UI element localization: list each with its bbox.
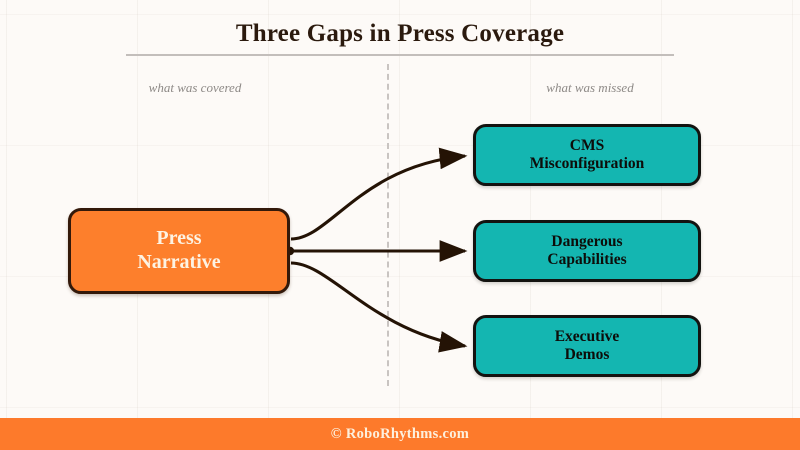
- footer-attribution: © RoboRhythms.com: [331, 426, 469, 443]
- node-cms-misconfiguration-label: CMS Misconfiguration: [530, 137, 645, 174]
- node-executive-demos-label: Executive Demos: [555, 328, 620, 365]
- node-gap-2-line1: Executive: [555, 328, 620, 345]
- node-gap-1-line1: Dangerous: [551, 233, 622, 250]
- node-gap-2-line2: Demos: [565, 346, 610, 363]
- node-press-narrative[interactable]: Press Narrative: [68, 208, 290, 294]
- connector-to-gap-2: [291, 263, 465, 346]
- node-dangerous-capabilities[interactable]: Dangerous Capabilities: [473, 220, 701, 282]
- connector-to-gap-0: [291, 156, 465, 239]
- node-press-narrative-line2: Narrative: [137, 251, 220, 273]
- diagram-canvas: Three Gaps in Press Coverage what was co…: [0, 0, 800, 450]
- page-title: Three Gaps in Press Coverage: [0, 20, 800, 48]
- node-gap-1-line2: Capabilities: [547, 251, 626, 268]
- column-label-covered: what was covered: [95, 80, 295, 96]
- title-divider-rule: [126, 54, 674, 56]
- node-cms-misconfiguration[interactable]: CMS Misconfiguration: [473, 124, 701, 186]
- column-label-missed: what was missed: [490, 80, 690, 96]
- node-executive-demos[interactable]: Executive Demos: [473, 315, 701, 377]
- node-dangerous-capabilities-label: Dangerous Capabilities: [547, 233, 626, 270]
- node-press-narrative-label: Press Narrative: [137, 227, 220, 274]
- vertical-dashed-divider: [387, 64, 389, 386]
- node-gap-0-line1: CMS: [570, 137, 604, 154]
- node-gap-0-line2: Misconfiguration: [530, 155, 645, 172]
- footer-banner: © RoboRhythms.com: [0, 418, 800, 450]
- node-press-narrative-line1: Press: [156, 227, 201, 249]
